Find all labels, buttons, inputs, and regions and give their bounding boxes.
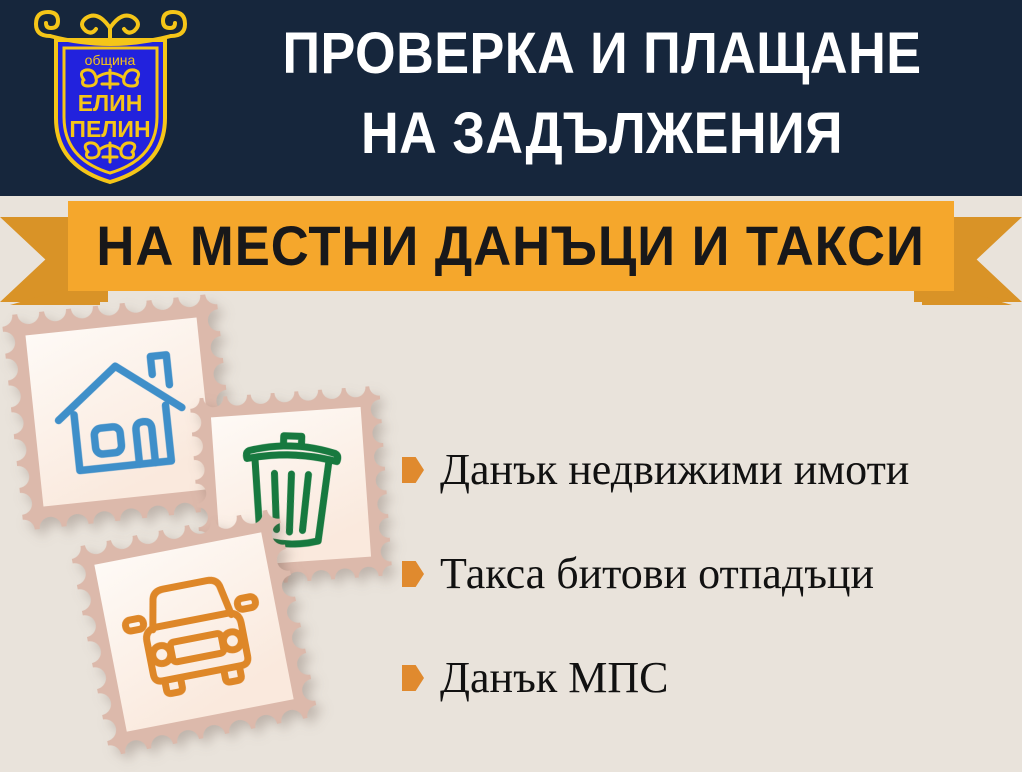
logo-name-line-1: ЕЛИН — [78, 90, 143, 116]
municipality-logo: община ЕЛИН ПЕЛИН — [28, 6, 193, 188]
logo-name-line-2: ПЕЛИН — [69, 116, 150, 142]
header-title-block: ПРОВЕРКА И ПЛАЩАНЕ НА ЗАДЪЛЖЕНИЯ — [196, 14, 1008, 174]
tax-type-list: Данък недвижими имоти Такса битови отпад… — [402, 418, 1017, 730]
page-title-line-2: НА ЗАДЪЛЖЕНИЯ — [237, 94, 968, 174]
poster-root: община ЕЛИН ПЕЛИН — [0, 0, 1022, 772]
list-item-label: Данък МПС — [440, 654, 668, 702]
list-item: Данък МПС — [402, 626, 1017, 730]
ribbon-subtitle: НА МЕСТНИ ДАНЪЦИ И ТАКСИ — [97, 218, 925, 274]
list-item: Данък недвижими имоти — [402, 418, 1017, 522]
list-item: Такса битови отпадъци — [402, 522, 1017, 626]
arrow-bullet-icon — [402, 561, 424, 587]
list-item-label: Такса битови отпадъци — [440, 550, 874, 598]
stamp-collage — [0, 300, 400, 772]
list-item-label: Данък недвижими имоти — [440, 446, 909, 494]
arrow-bullet-icon — [402, 457, 424, 483]
stamp-vehicle — [70, 508, 319, 757]
ribbon-panel: НА МЕСТНИ ДАНЪЦИ И ТАКСИ — [68, 201, 954, 291]
page-title-line-1: ПРОВЕРКА И ПЛАЩАНЕ — [237, 14, 968, 94]
arrow-bullet-icon — [402, 665, 424, 691]
logo-top-text: община — [85, 52, 136, 68]
subtitle-ribbon: НА МЕСТНИ ДАНЪЦИ И ТАКСИ — [0, 196, 1022, 308]
header-banner: община ЕЛИН ПЕЛИН — [0, 0, 1022, 196]
